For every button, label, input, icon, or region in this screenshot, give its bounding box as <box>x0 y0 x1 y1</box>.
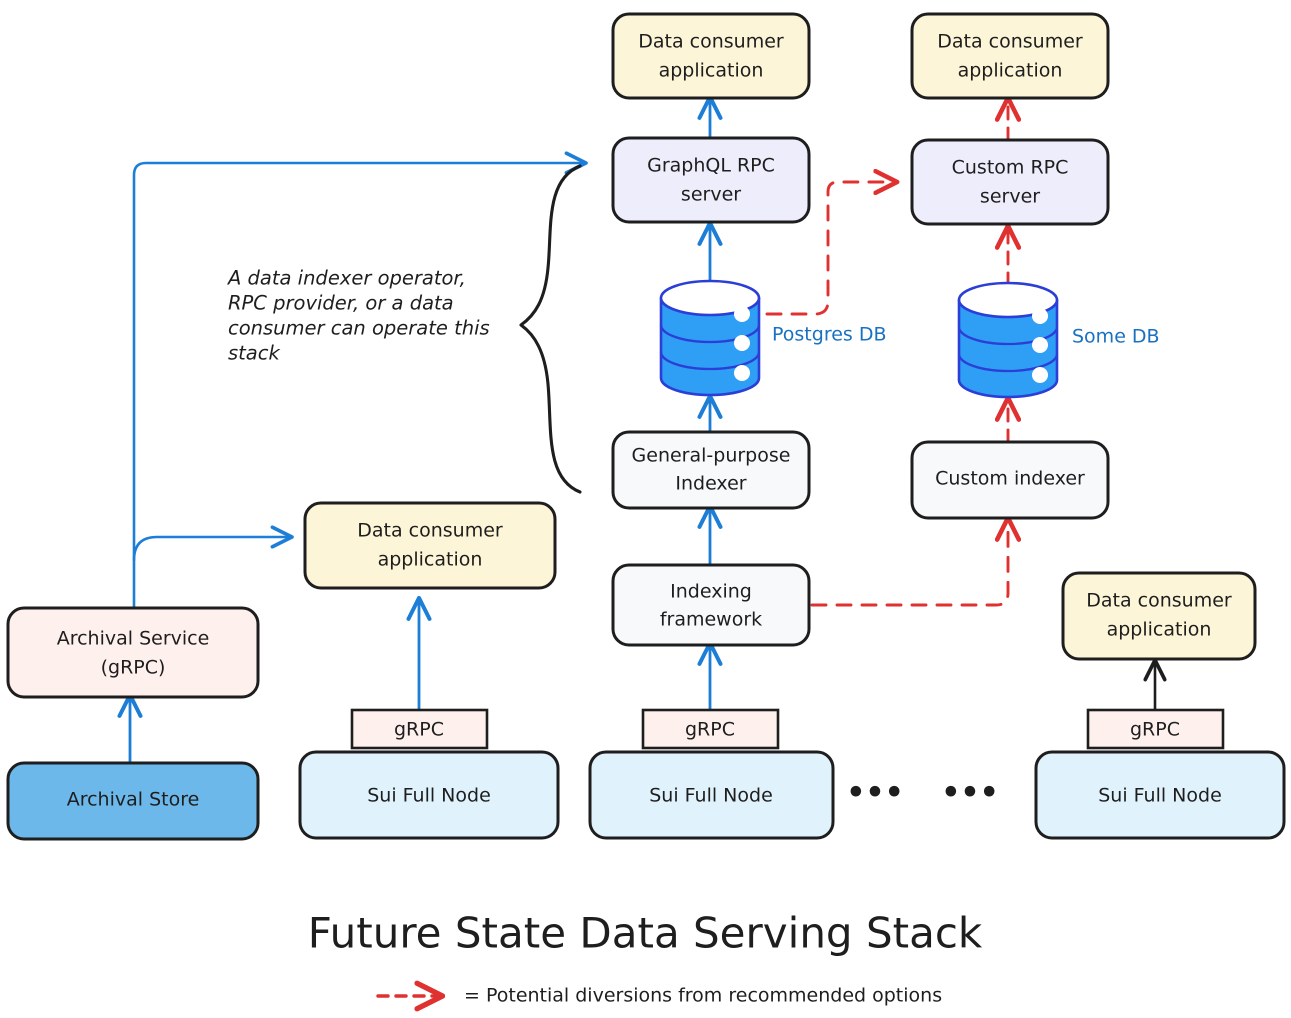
node-sui-full-node-left[interactable]: Sui Full Node <box>300 752 558 838</box>
node-sui-full-node-mid[interactable]: Sui Full Node <box>590 752 833 838</box>
node-label: Sui Full Node <box>1098 785 1222 807</box>
node-label: Indexer <box>675 473 746 495</box>
node-custom-rpc-server[interactable]: Custom RPC server <box>912 140 1108 224</box>
architecture-diagram: Data consumer application Data consumer … <box>0 0 1291 1018</box>
node-sui-full-node-right[interactable]: Sui Full Node <box>1036 752 1284 838</box>
node-custom-indexer[interactable]: Custom indexer <box>912 442 1108 518</box>
node-grpc-right[interactable]: gRPC <box>1088 710 1223 748</box>
note-line: RPC provider, or a data <box>228 292 454 315</box>
node-label: gRPC <box>394 719 444 741</box>
arrow-archival-to-consumer <box>134 537 290 560</box>
node-label: Custom indexer <box>935 468 1085 490</box>
node-archival-store[interactable]: Archival Store <box>8 763 258 839</box>
node-label: Archival Store <box>67 789 200 811</box>
database-some[interactable]: Some DB <box>959 283 1160 397</box>
node-label: gRPC <box>1130 719 1180 741</box>
node-label: Archival Service <box>57 628 210 650</box>
node-label: Data consumer <box>937 31 1083 53</box>
node-label: framework <box>660 609 762 631</box>
note-line: stack <box>228 342 280 365</box>
database-postgres[interactable]: Postgres DB <box>661 281 887 395</box>
legend-text: = Potential diversions from recommended … <box>464 985 942 1007</box>
node-general-purpose-indexer[interactable]: General-purpose Indexer <box>613 432 809 508</box>
node-label: Sui Full Node <box>649 785 773 807</box>
node-grpc-mid[interactable]: gRPC <box>643 710 778 748</box>
node-label: server <box>681 184 741 206</box>
node-label: Indexing <box>670 581 752 603</box>
node-consumer-bottom-right[interactable]: Data consumer application <box>1063 573 1255 659</box>
node-label: application <box>1107 619 1212 641</box>
curly-brace-icon <box>521 166 580 492</box>
node-label: gRPC <box>685 719 735 741</box>
note-line: A data indexer operator, <box>226 267 466 290</box>
node-label: General-purpose <box>632 445 791 467</box>
ellipsis-right: ••• <box>941 776 999 811</box>
node-label: Data consumer <box>638 31 784 53</box>
node-label: application <box>659 60 764 82</box>
arrow-indexing-to-custom-indexer-dashed <box>812 520 1008 605</box>
node-consumer-top-right[interactable]: Data consumer application <box>912 14 1108 98</box>
ellipsis-left: ••• <box>846 776 904 811</box>
node-label: server <box>980 186 1040 208</box>
note-line: consumer can operate this <box>228 317 490 340</box>
node-indexing-framework[interactable]: Indexing framework <box>613 565 809 645</box>
node-label: Sui Full Node <box>367 785 491 807</box>
node-label: application <box>378 549 483 571</box>
page-title: Future State Data Serving Stack <box>308 909 983 958</box>
node-label: Data consumer <box>357 520 503 542</box>
database-label: Postgres DB <box>772 324 887 346</box>
node-label: application <box>958 60 1063 82</box>
legend: = Potential diversions from recommended … <box>378 985 942 1007</box>
node-label: (gRPC) <box>101 657 166 679</box>
node-label: Data consumer <box>1086 590 1232 612</box>
node-grpc-left[interactable]: gRPC <box>352 710 487 748</box>
operator-note: A data indexer operator, RPC provider, o… <box>226 267 490 365</box>
node-archival-service[interactable]: Archival Service (gRPC) <box>8 608 258 697</box>
database-label: Some DB <box>1072 326 1160 348</box>
node-consumer-mid-left[interactable]: Data consumer application <box>305 503 555 588</box>
node-label: GraphQL RPC <box>647 155 775 177</box>
node-graphql-rpc-server[interactable]: GraphQL RPC server <box>613 138 809 222</box>
node-label: Custom RPC <box>952 157 1069 179</box>
diagram-canvas: Data consumer application Data consumer … <box>0 0 1291 1018</box>
node-consumer-top-left[interactable]: Data consumer application <box>613 14 809 98</box>
